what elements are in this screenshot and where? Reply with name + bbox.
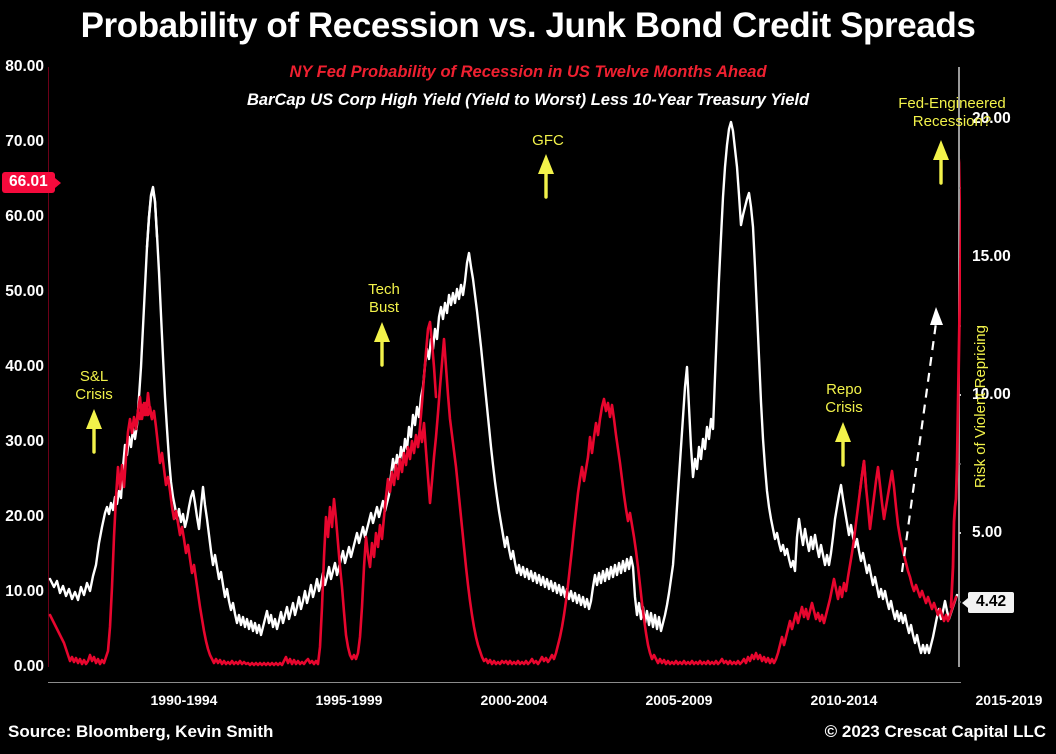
right-axis-current-value-badge: 4.42 (968, 592, 1014, 613)
annotation-risk-of-violent-repricing: Risk of Violent Repricing (972, 325, 990, 488)
right-axis-tick-5: 5.00 (972, 524, 1042, 542)
right-axis-tick-15: 15.00 (972, 248, 1042, 266)
left-axis-tick-20: 20.00 (0, 508, 44, 526)
annotation-repo-crisis: Repo Crisis (808, 381, 880, 418)
plot-area (48, 67, 961, 683)
x-axis-tick-2010-2014: 2010-2014 (784, 692, 904, 708)
x-axis-tick-2005-2009: 2005-2009 (619, 692, 739, 708)
chart-canvas (48, 67, 961, 683)
annotation-fed-engineered-recession: Fed-Engineered Recession? (884, 95, 1020, 132)
chart-screenshot: Probability of Recession vs. Junk Bond C… (0, 0, 1056, 754)
annotation-sl-crisis: S&L Crisis (58, 368, 130, 405)
series-credit-spread-sl-peak (147, 187, 157, 247)
left-axis-tick-10: 10.00 (0, 583, 44, 601)
left-axis-tick-30: 30.00 (0, 433, 44, 451)
source-label: Source: Bloomberg, Kevin Smith (8, 722, 273, 742)
left-axis-current-value-badge: 66.01 (2, 172, 55, 193)
left-axis-tick-60: 60.00 (0, 208, 44, 226)
left-axis-tick-40: 40.00 (0, 358, 44, 376)
copyright-label: © 2023 Crescat Capital LLC (825, 722, 1046, 742)
x-axis-tick-1990-1994: 1990-1994 (124, 692, 244, 708)
risk-repricing-arrow-icon (902, 307, 943, 572)
x-axis-tick-2000-2004: 2000-2004 (454, 692, 574, 708)
x-axis-tick-1995-1999: 1995-1999 (289, 692, 409, 708)
annotation-tech-bust: Tech Bust (348, 281, 420, 318)
left-axis-tick-80: 80.00 (0, 58, 44, 76)
annotation-gfc: GFC (512, 132, 584, 150)
series-recession-repo-peak (860, 461, 866, 491)
left-axis-tick-50: 50.00 (0, 283, 44, 301)
left-axis-tick-0: 0.00 (0, 658, 44, 676)
x-axis-tick-2015-2019: 2015-2019 (949, 692, 1056, 708)
left-axis-tick-70: 70.00 (0, 133, 44, 151)
page-title: Probability of Recession vs. Junk Bond C… (0, 6, 1056, 46)
